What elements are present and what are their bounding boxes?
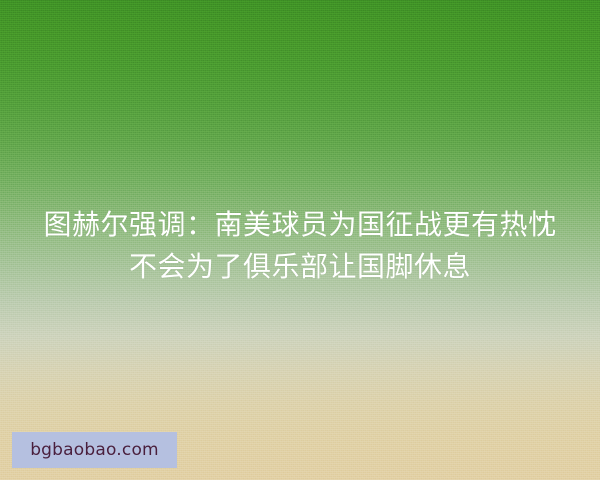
headline-line-1: 图赫尔强调：南美球员为国征战更有热忱	[0, 204, 600, 246]
headline-line-2: 不会为了俱乐部让国脚休息	[0, 246, 600, 288]
headline-text: 图赫尔强调：南美球员为国征战更有热忱 不会为了俱乐部让国脚休息	[0, 204, 600, 288]
news-banner-image: 图赫尔强调：南美球员为国征战更有热忱 不会为了俱乐部让国脚休息 bgbaobao…	[0, 0, 600, 480]
watermark-badge: bgbaobao.com	[12, 432, 177, 468]
watermark-label: bgbaobao.com	[30, 442, 159, 459]
